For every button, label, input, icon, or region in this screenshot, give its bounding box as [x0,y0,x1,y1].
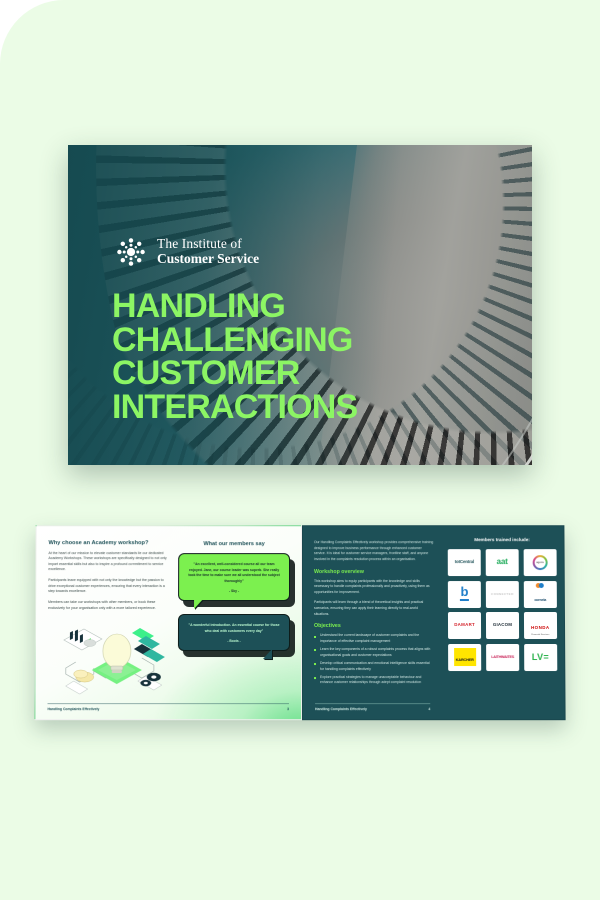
logo-cell-faint-wordmark: CONNECTED [486,581,519,608]
objective-item: Learn the key components of a robust com… [314,647,434,658]
logo-line-2: Customer Service [157,252,259,267]
member-logo-grid: totCentral aat agora b [448,549,558,670]
right-page-footer: Handling Complaints Effectively 4 [315,703,430,711]
logo-cell-cornela: cornela [523,581,556,608]
logo-text-aat: aat [497,558,508,567]
isometric-lightbulb-illustration-icon [50,618,185,696]
left-paragraph-2: Participants leave equipped with not onl… [48,578,170,595]
logo-text-faint-wordmark: CONNECTED [491,592,514,596]
logo-text-agora: agora [534,557,545,568]
right-intro-paragraph: Our Handling Complaints Effectively work… [314,540,434,562]
logo-cell-agora: agora [523,549,556,576]
testimonials-heading: What our members say [178,541,290,547]
institute-dot-circle-logo-icon [114,235,148,269]
logo-cell-b-blue: b [448,581,481,608]
logo-subtext-honda: Financial Services [526,634,555,636]
left-page-heading: Why choose an Academy workshop? [48,540,170,546]
objectives-heading: Objectives [314,623,434,629]
cover-title: HANDLING CHALLENGING CUSTOMER INTERACTIO… [112,290,442,425]
logo-text-giacom: GIACOM [493,623,512,628]
logo-cell-honda: HONDA Financial Services [524,612,557,639]
objective-item: Develop critical communication and emoti… [314,661,434,672]
spread-right-page: Our Handling Complaints Effectively work… [302,525,566,720]
logo-cell-lv: LV= [524,644,558,671]
logo-text-honda: HONDA [531,624,550,629]
cornela-dots-icon [525,583,554,588]
members-logo-panel: Members trained include: totCentral aat … [442,526,565,719]
objectives-list: Understand the current landscape of cust… [314,633,434,686]
document-spread: Why choose an Academy workshop? At the h… [34,525,565,720]
page-canvas: The Institute of Customer Service HANDLI… [0,0,600,900]
workshop-overview-heading: Workshop overview [314,569,434,575]
cover-title-line-1: HANDLING [112,290,442,324]
right-page-number: 4 [428,707,430,711]
testimonial-quote-boots: "A wonderful introduction. An essential … [188,623,280,634]
logo-cell-aat: aat [485,549,518,576]
logo-text-damart: DAMART [454,623,475,628]
logo-text-cornela: cornela [534,598,546,602]
cover-image-card: The Institute of Customer Service HANDLI… [68,145,532,465]
spread-left-page: Why choose an Academy workshop? At the h… [34,525,302,720]
logo-cell-damart: DAMART [448,612,481,639]
right-page-text-column: Our Handling Complaints Effectively work… [303,526,442,719]
testimonial-bubble-boots: "A wonderful introduction. An essential … [178,614,290,651]
overview-paragraph-2: Participants will learn through a blend … [314,601,434,618]
testimonial-attribution-boots: - Boots - [188,639,280,643]
institute-logo: The Institute of Customer Service [114,235,259,269]
karcher-yellow-bar: KARCHER [454,648,476,666]
logo-text-lv: LV= [532,652,549,662]
cover-title-line-2: CHALLENGING [112,324,442,358]
agora-ring-icon: agora [532,555,547,570]
left-footer-text: Handling Complaints Effectively [47,707,99,711]
logo-text-karcher: KARCHER [456,658,474,662]
logo-text-b-blue: b [450,588,479,599]
left-paragraph-3: Members can take our workshops with othe… [48,600,170,611]
logo-cell-laithwaites: LAITHWAITES [486,644,519,671]
right-footer-text: Handling Complaints Effectively [315,707,367,711]
left-page-number: 3 [287,707,289,711]
members-trained-heading: Members trained include: [448,537,557,542]
testimonial-attribution-sky: - Sky - [188,589,280,593]
cover-title-line-3: CUSTOMER [112,357,442,391]
testimonial-bubble-sky: "An excellent, well-considered course al… [178,553,290,601]
overview-paragraph-1: This workshop aims to equip participants… [314,579,434,596]
left-paragraph-1: At the heart of our mission to elevate c… [48,551,170,574]
left-page-footer: Handling Complaints Effectively 3 [47,703,288,711]
cover-title-line-4: INTERACTIONS [112,391,442,425]
objective-item: Explore practical strategies to manage u… [314,675,434,686]
testimonials-column: What our members say "An excellent, well… [178,540,290,651]
logo-cell-giacom: GIACOM [486,612,519,639]
institute-logo-wordmark: The Institute of Customer Service [157,237,259,266]
objective-item: Understand the current landscape of cust… [314,633,434,644]
b-blue-underline [460,599,469,600]
logo-line-1: The Institute of [157,237,259,252]
logo-cell-karcher: KARCHER [448,644,481,671]
logo-text-totcentral: totCentral [455,560,474,565]
logo-text-laithwaites: LAITHWAITES [491,655,514,659]
logo-cell-totcentral: totCentral [448,549,481,576]
testimonial-quote-sky: "An excellent, well-considered course al… [188,562,280,584]
